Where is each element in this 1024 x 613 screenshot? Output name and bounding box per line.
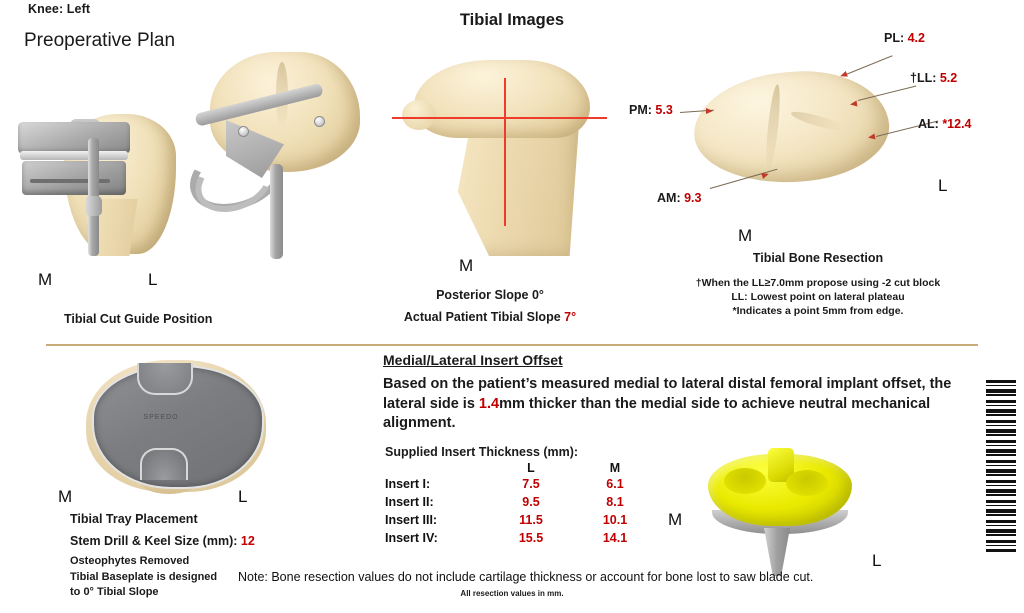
insert-offset-heading: Medial/Lateral Insert Offset <box>383 352 563 368</box>
insert-marker-lateral: L <box>872 551 881 571</box>
insert-row-label: Insert II: <box>385 493 489 511</box>
barcode <box>986 380 1016 552</box>
insert-row-medial-value: 14.1 <box>573 529 657 547</box>
insert-row-label: Insert III: <box>385 511 489 529</box>
stem-size-value: 12 <box>241 534 255 548</box>
tibial-tray-placement-image: SPEEDO <box>78 356 274 496</box>
resection-callout-al: AL: *12.4 <box>918 117 972 131</box>
resection-footnote-1: †When the LL≥7.0mm propose using -2 cut … <box>618 276 1018 290</box>
tray-posterior-notch <box>140 448 188 480</box>
callout-ll-label: †LL: <box>910 71 940 85</box>
crosshair-vertical-line <box>504 78 506 226</box>
cut-guide-plate-lower <box>22 161 126 195</box>
callout-ll-value: 5.2 <box>940 71 957 85</box>
table-row: Insert I: 7.5 6.1 <box>385 475 657 493</box>
arrowhead-pm <box>706 108 713 114</box>
supplied-insert-thickness-heading: Supplied Insert Thickness (mm): <box>385 445 578 459</box>
leader-line-pl <box>846 55 893 75</box>
callout-al-label: AL: <box>918 117 942 131</box>
actual-slope-label: Actual Patient Tibial Slope 7° <box>370 310 610 324</box>
cut-guide-caption: Tibial Cut Guide Position <box>64 312 212 326</box>
arrowhead-ll <box>850 101 858 108</box>
guide-pin-lateral <box>314 116 325 127</box>
tray-marker-medial: M <box>58 487 72 507</box>
insert-row-label: Insert IV: <box>385 529 489 547</box>
resection-footnote-3: *Indicates a point 5mm from edge. <box>618 304 1018 318</box>
stem-drill-keel-size: Stem Drill & Keel Size (mm): 12 <box>70 534 255 548</box>
alignment-rod-knob <box>85 196 102 216</box>
insert-row-medial-value: 10.1 <box>573 511 657 529</box>
insert-row-label: Insert I: <box>385 475 489 493</box>
table-header-medial: M <box>573 461 657 475</box>
tibial-bone-resection-image <box>618 28 1018 253</box>
table-row: Insert III: 11.5 10.1 <box>385 511 657 529</box>
callout-am-label: AM: <box>657 191 684 205</box>
resection-footnote-2: LL: Lowest point on lateral plateau <box>618 290 1018 304</box>
cut-guide-plate-upper <box>18 122 130 154</box>
insert-row-lateral-value: 9.5 <box>489 493 573 511</box>
section-divider <box>46 344 978 346</box>
crosshair-horizontal-line <box>392 117 607 119</box>
callout-pm-value: 5.3 <box>655 103 672 117</box>
slope-marker-medial: M <box>459 256 473 276</box>
table-row: Insert II: 9.5 8.1 <box>385 493 657 511</box>
tibia-head-lateral <box>414 60 590 138</box>
actual-slope-text: Actual Patient Tibial Slope <box>404 310 564 324</box>
callout-am-value: 9.3 <box>684 191 701 205</box>
insert-lateral-dish <box>724 468 766 494</box>
resection-callout-ll: †LL: 5.2 <box>910 71 957 85</box>
preoperative-plan-title: Preoperative Plan <box>24 30 175 52</box>
stem-size-label: Stem Drill & Keel Size (mm): <box>70 534 241 548</box>
insert-marker-medial: M <box>668 510 682 530</box>
offset-body-value: 1.4 <box>479 396 499 412</box>
insert-row-lateral-value: 11.5 <box>489 511 573 529</box>
callout-pl-value: 4.2 <box>908 31 925 45</box>
tray-caption: Tibial Tray Placement <box>70 512 198 526</box>
tibial-cut-guide-image <box>12 104 197 256</box>
tray-anterior-notch <box>137 363 193 395</box>
guide-stem <box>270 164 283 259</box>
tibial-slope-image <box>392 48 607 258</box>
guide-pin-medial <box>238 126 249 137</box>
insert-keel-stem <box>764 528 790 576</box>
resection-marker-medial: M <box>738 226 752 246</box>
cut-guide-marker-lateral: L <box>148 270 157 290</box>
tray-marker-lateral: L <box>238 487 247 507</box>
tibial-plateau-guide-image <box>186 46 376 261</box>
insert-row-medial-value: 6.1 <box>573 475 657 493</box>
bone-resection-note: Note: Bone resection values do not inclu… <box>238 570 813 584</box>
tray-brandmark: SPEEDO <box>130 414 192 423</box>
table-header-lateral: L <box>489 461 573 475</box>
insert-row-lateral-value: 7.5 <box>489 475 573 493</box>
table-row: Insert IV: 15.5 14.1 <box>385 529 657 547</box>
resection-plateau-shape <box>690 65 892 188</box>
insert-medial-dish <box>786 470 828 496</box>
resection-marker-lateral: L <box>938 176 947 196</box>
table-header-blank <box>385 461 489 475</box>
insert-row-lateral-value: 15.5 <box>489 529 573 547</box>
table-header-row: L M <box>385 461 657 475</box>
tibia-tubercle <box>402 100 436 130</box>
callout-pl-label: PL: <box>884 31 908 45</box>
callout-pm-label: PM: <box>629 103 655 117</box>
arrowhead-al <box>868 133 876 140</box>
actual-slope-value: 7° <box>564 310 576 324</box>
resection-caption: Tibial Bone Resection <box>618 251 1018 265</box>
cut-guide-marker-medial: M <box>38 270 52 290</box>
resection-units-note: All resection values in mm. <box>0 589 1024 598</box>
resection-callout-pl: PL: 4.2 <box>884 31 925 45</box>
cut-guide-plate-mid <box>20 151 128 160</box>
posterior-slope-label: Posterior Slope 0° <box>370 288 610 302</box>
resection-callout-pm: PM: 5.3 <box>629 103 673 117</box>
resection-callout-am: AM: 9.3 <box>657 191 701 205</box>
insert-thickness-table: L M Insert I: 7.5 6.1 Insert II: 9.5 8.1… <box>385 461 657 547</box>
osteophytes-removed-line: Osteophytes Removed <box>70 555 189 567</box>
tibial-insert-render-image <box>690 448 870 578</box>
baseplate-note-line1: Tibial Baseplate is designed <box>70 571 217 583</box>
insert-offset-body: Based on the patient’s measured medial t… <box>383 375 969 434</box>
callout-al-value: *12.4 <box>942 117 971 131</box>
insert-row-medial-value: 8.1 <box>573 493 657 511</box>
